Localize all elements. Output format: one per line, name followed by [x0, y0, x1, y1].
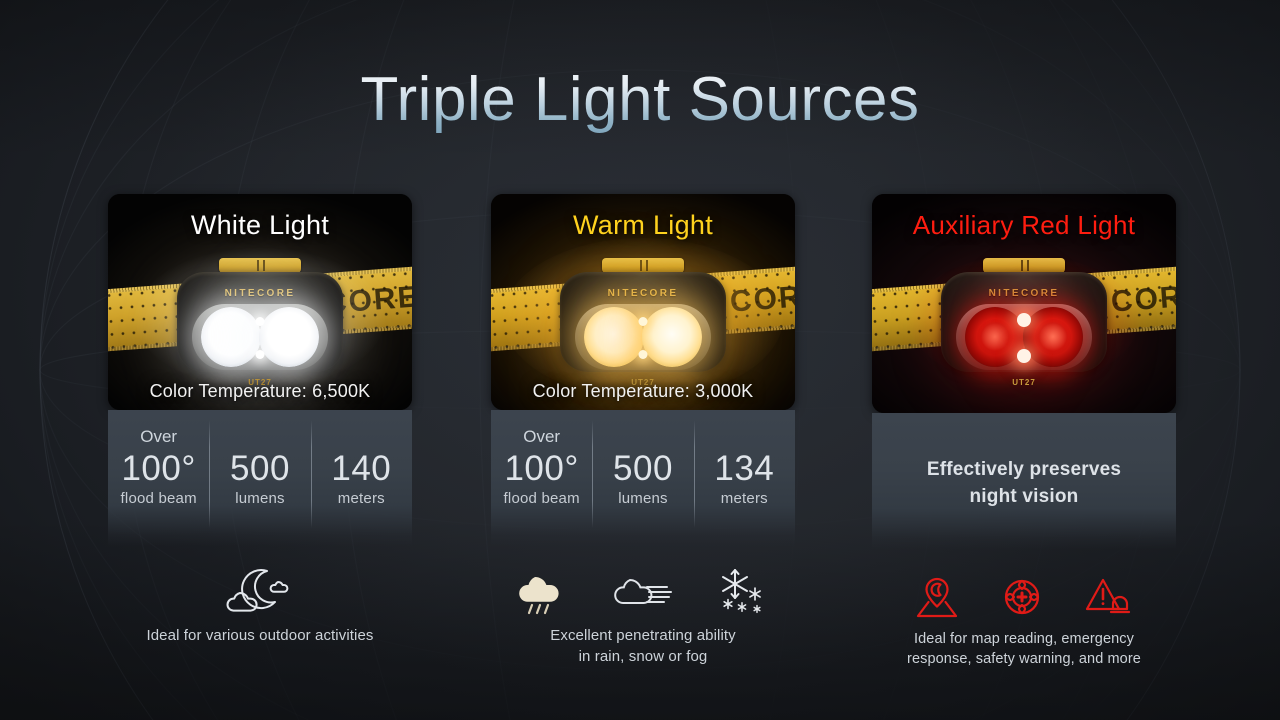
card-heading: White Light [108, 210, 412, 241]
page-title: Triple Light Sources [0, 66, 1280, 134]
headband-logo: COR [729, 280, 795, 319]
spec-value: 100° [108, 448, 209, 489]
brand-label: NITECORE [941, 288, 1107, 299]
fog-cloud-icon [613, 572, 675, 616]
spec-distance: 134 meters [694, 410, 795, 546]
lens-bezel [956, 304, 1092, 370]
lens-bezel-inner [959, 307, 1089, 367]
lens-bezel-inner [578, 307, 708, 367]
spec-lumens: 500 lumens [592, 410, 693, 546]
card-auxiliary-red-light: COR NITECORE [872, 194, 1176, 669]
spec-unit: meters [311, 490, 412, 507]
lens-left [965, 307, 1025, 367]
spec-lumens: 500 lumens [209, 410, 310, 546]
micro-led-top [1017, 313, 1031, 327]
spec-unit: lumens [209, 490, 310, 507]
snowflake-icon [715, 568, 769, 616]
card-heading: Warm Light [491, 210, 795, 241]
spec-distance: 140 meters [311, 410, 412, 546]
card-footer-white: Ideal for various outdoor activities [108, 546, 412, 647]
footer-caption: Ideal for map reading, emergency respons… [859, 629, 1189, 669]
lens-right [1023, 307, 1083, 367]
headband-logo: COR [1110, 280, 1176, 319]
headlamp-unit: NITECORE UT27 [177, 258, 343, 374]
spec-unit: meters [694, 490, 795, 507]
spec-value: 100° [491, 448, 592, 489]
card-footer-red: Ideal for map reading, emergency respons… [872, 549, 1176, 669]
lens-right [259, 307, 319, 367]
card-white-light: CORE NITECORE [108, 194, 412, 647]
product-photo-white: CORE NITECORE [108, 194, 412, 410]
card-heading: Auxiliary Red Light [872, 210, 1176, 241]
footer-caption: Ideal for various outdoor activities [108, 626, 412, 647]
footer-icon-row [491, 564, 795, 616]
card-warm-light: COR NITECORE [491, 194, 795, 667]
rain-cloud-icon [517, 568, 573, 616]
micro-led-bottom [256, 350, 265, 359]
spec-unit: flood beam [491, 490, 592, 507]
micro-led-top [639, 317, 648, 326]
spec-unit: flood beam [108, 490, 209, 507]
card-footer-warm: Excellent penetrating ability in rain, s… [491, 546, 795, 667]
headlamp-clip [602, 258, 684, 273]
spec-flood-beam: Over 100° flood beam [108, 410, 209, 546]
spec-value: 500 [209, 448, 310, 489]
micro-led-bottom [639, 350, 648, 359]
micro-led-top [256, 317, 265, 326]
headlamp-unit: NITECORE UT27 [560, 258, 726, 374]
spec-prefix: Over [108, 428, 209, 448]
headlamp-unit: NITECORE UT27 [941, 258, 1107, 374]
map-pin-moon-icon [914, 575, 960, 619]
spec-value: 140 [311, 448, 412, 489]
headlamp-clip [983, 258, 1065, 273]
color-temperature-caption: Color Temperature: 6,500K [108, 381, 412, 402]
card-columns: CORE NITECORE [0, 194, 1280, 694]
lens-right [642, 307, 702, 367]
headlamp-clip [219, 258, 301, 273]
color-temperature-caption: Color Temperature: 3,000K [491, 381, 795, 402]
night-vision-message: Effectively preserves night vision [872, 413, 1176, 511]
spec-flood-beam: Over 100° flood beam [491, 410, 592, 546]
lens-bezel-inner [195, 307, 325, 367]
model-label: UT27 [941, 378, 1107, 387]
lens-left [201, 307, 261, 367]
footer-caption: Excellent penetrating ability in rain, s… [491, 626, 795, 667]
spec-prefix: Over [491, 428, 592, 448]
footer-icon-row [108, 564, 412, 616]
lens-bezel [575, 304, 711, 370]
spec-panel-warm: Over 100° flood beam 500 lumens 134 mete… [491, 410, 795, 546]
footer-icon-row [872, 567, 1176, 619]
spec-unit: lumens [592, 490, 693, 507]
lens-bezel [192, 304, 328, 370]
warning-siren-icon [1084, 575, 1134, 619]
brand-label: NITECORE [177, 288, 343, 299]
product-photo-red: COR NITECORE [872, 194, 1176, 413]
slide-root: Triple Light Sources CORE [0, 0, 1280, 720]
spec-panel-white: Over 100° flood beam 500 lumens 140 mete… [108, 410, 412, 546]
micro-led-bottom [1017, 349, 1031, 363]
product-photo-warm: COR NITECORE [491, 194, 795, 410]
spec-value: 500 [592, 448, 693, 489]
spec-value: 134 [694, 448, 795, 489]
brand-label: NITECORE [560, 288, 726, 299]
moon-clouds-icon [223, 566, 297, 616]
lens-left [584, 307, 644, 367]
spec-panel-red: Effectively preserves night vision [872, 413, 1176, 549]
lifebuoy-medical-icon [1000, 575, 1044, 619]
